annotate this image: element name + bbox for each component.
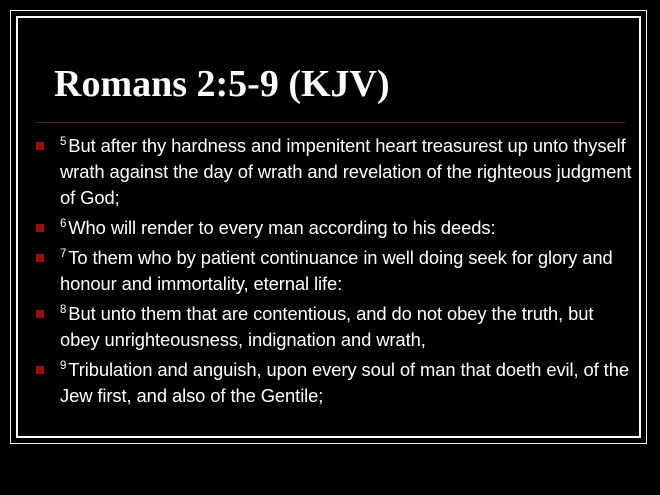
title-divider-rule <box>35 122 625 123</box>
verse-text: Tribulation and anguish, upon every soul… <box>60 359 629 406</box>
red-square-bullet-icon <box>36 366 44 374</box>
slide-title: Romans 2:5-9 (KJV) <box>54 62 624 106</box>
verse-text: To them who by patient continuance in we… <box>60 247 613 294</box>
verse-text: Who will render to every man according t… <box>68 217 495 238</box>
list-item: 9Tribulation and anguish, upon every sou… <box>30 357 634 409</box>
presentation-slide: Romans 2:5-9 (KJV) 5But after thy hardne… <box>0 0 660 495</box>
list-item: 8But unto them that are contentious, and… <box>30 301 634 353</box>
list-item: 7To them who by patient continuance in w… <box>30 245 634 297</box>
list-item: 6Who will render to every man according … <box>30 215 634 241</box>
list-item: 5But after thy hardness and impenitent h… <box>30 133 634 211</box>
red-square-bullet-icon <box>36 254 44 262</box>
slide-content: Romans 2:5-9 (KJV) 5But after thy hardne… <box>18 18 639 436</box>
red-square-bullet-icon <box>36 224 44 232</box>
verse-list: 5But after thy hardness and impenitent h… <box>30 133 634 409</box>
verse-text: But unto them that are contentious, and … <box>60 303 593 350</box>
red-square-bullet-icon <box>36 310 44 318</box>
red-square-bullet-icon <box>36 142 44 150</box>
verse-text: But after thy hardness and impenitent he… <box>60 135 632 208</box>
